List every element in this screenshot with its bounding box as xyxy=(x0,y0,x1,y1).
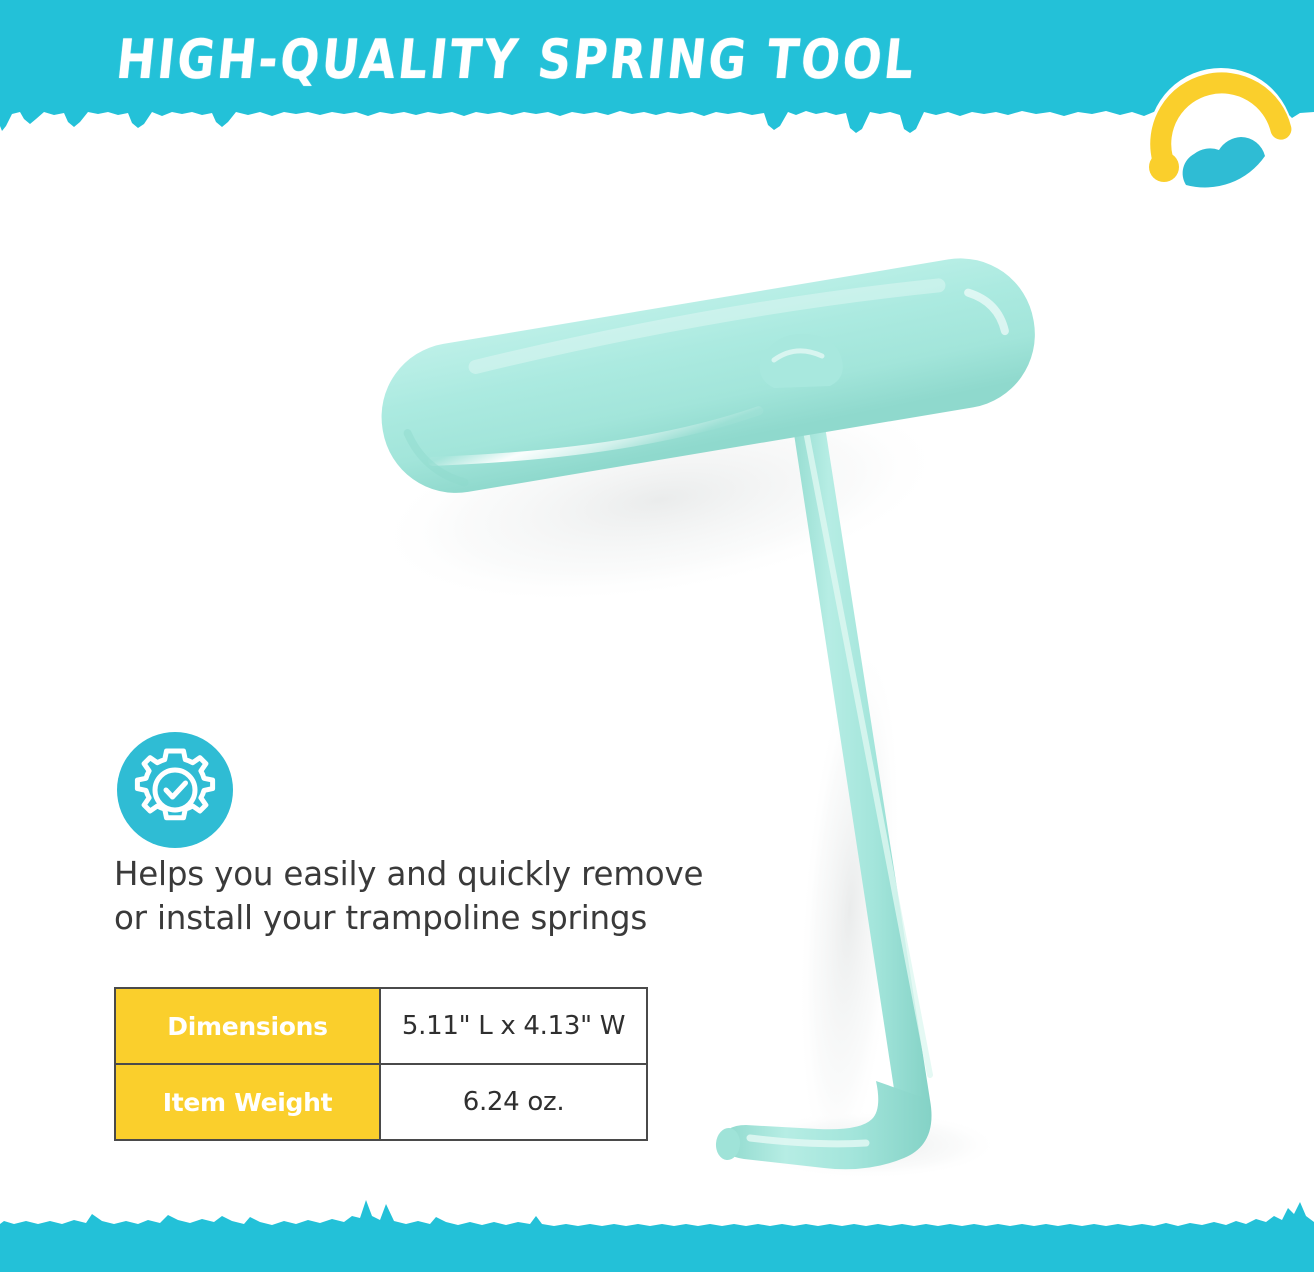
footer-band-shape xyxy=(0,1186,1314,1272)
gear-check-icon xyxy=(117,732,233,848)
spec-value-item-weight: 6.24 oz. xyxy=(380,1064,647,1140)
feature-description-line-1: Helps you easily and quickly remove xyxy=(114,852,734,896)
feature-description: Helps you easily and quickly remove or i… xyxy=(114,852,734,940)
spec-label-dimensions: Dimensions xyxy=(115,988,380,1064)
feature-icon xyxy=(117,732,233,848)
product-infographic: HIGH-QUALITY SPRING TOOL xyxy=(0,0,1314,1272)
spec-value-dimensions: 5.11" L x 4.13" W xyxy=(380,988,647,1064)
sun-cloud-logo-icon xyxy=(1138,66,1304,216)
spec-table: Dimensions 5.11" L x 4.13" W Item Weight… xyxy=(114,987,648,1141)
page-title: HIGH-QUALITY SPRING TOOL xyxy=(0,26,1040,92)
brand-logo xyxy=(1138,66,1304,216)
spec-label-item-weight: Item Weight xyxy=(115,1064,380,1140)
header-banner: HIGH-QUALITY SPRING TOOL xyxy=(0,0,1314,136)
footer-banner xyxy=(0,1186,1314,1272)
table-row: Item Weight 6.24 oz. xyxy=(115,1064,647,1140)
table-row: Dimensions 5.11" L x 4.13" W xyxy=(115,988,647,1064)
feature-description-line-2: or install your trampoline springs xyxy=(114,896,734,940)
